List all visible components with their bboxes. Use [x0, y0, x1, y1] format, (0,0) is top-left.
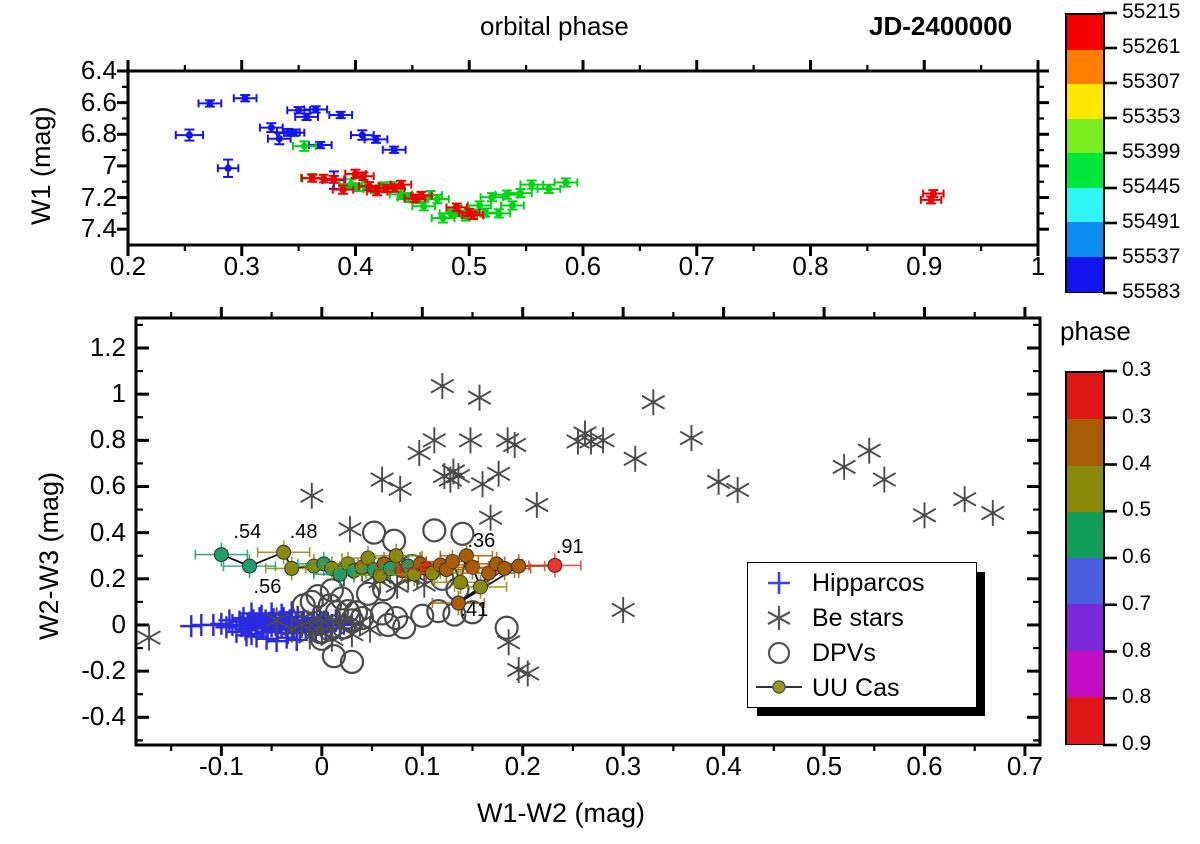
colorbar-tick-label: 0.3 [1122, 359, 1151, 380]
phase-annotation: .54 [233, 522, 261, 542]
legend-item-be-stars[interactable]: Be stars [812, 604, 904, 633]
lower-x-tick: -0.1 [193, 753, 249, 779]
colorbar-band [1067, 50, 1103, 85]
colorbar-tick-label: 55353 [1122, 106, 1180, 127]
lower-x-tick: 0 [294, 753, 350, 779]
colorbar-band [1067, 373, 1103, 420]
phase-annotation: .48 [290, 522, 318, 542]
legend-marker-asterisk [768, 606, 790, 630]
colorbar-tick-label: 0.3 [1122, 406, 1151, 427]
upper-y-tick: 6.4 [55, 57, 117, 83]
lower-x-tick: 0.3 [595, 753, 651, 779]
colorbar-tick-label: 0.8 [1122, 640, 1151, 661]
lower-x-tick: 0.6 [896, 753, 952, 779]
upper-x-tick: 0.9 [902, 253, 946, 279]
lower-y-tick: 0.6 [58, 472, 126, 498]
phase-annotation: .41 [460, 600, 488, 620]
colorbar-tick-label: 55261 [1122, 36, 1180, 57]
lower-y-tick: 1 [58, 380, 126, 406]
lower-x-tick: 0.5 [796, 753, 852, 779]
lower-x-tick: 0.7 [997, 753, 1053, 779]
upper-x-tick: 0.2 [106, 253, 150, 279]
colorbar-tick-label: 55537 [1122, 246, 1180, 267]
colorbar-tick-label: 55399 [1122, 141, 1180, 162]
colorbar-band [1067, 119, 1103, 154]
lower-ylabel: W2-W3 (mag) [36, 472, 63, 640]
colorbar-tick-label: 55445 [1122, 176, 1180, 197]
colorbar-tick-label: 0.7 [1122, 593, 1151, 614]
colorbar-band [1067, 419, 1103, 466]
lower-x-tick: 0.2 [495, 753, 551, 779]
upper-y-tick: 7 [55, 152, 117, 178]
colorbar-band [1067, 697, 1103, 744]
colorbar-tick-label: 0.9 [1122, 733, 1151, 754]
colorbar-band [1067, 222, 1103, 257]
lower-y-tick: -0.2 [58, 657, 126, 683]
colorbar-band [1067, 604, 1103, 651]
lower-y-tick: 1.2 [58, 334, 126, 360]
colorbar-tick-label: 55307 [1122, 71, 1180, 92]
colorbar-band [1067, 188, 1103, 223]
upper-x-tick: 0.5 [447, 253, 491, 279]
legend-item-dpvs[interactable]: DPVs [812, 639, 876, 668]
upper-y-tick: 7.2 [55, 184, 117, 210]
phase-annotation: .56 [254, 577, 282, 597]
colorbar-band [1067, 84, 1103, 119]
upper-ylabel: W1 (mag) [28, 106, 55, 225]
lower-x-tick: 0.4 [696, 753, 752, 779]
upper-x-tick: 0.6 [561, 253, 605, 279]
lower-y-tick: 0.4 [58, 519, 126, 545]
colorbar-tick-label: 0.5 [1122, 499, 1151, 520]
legend-marker-plus [768, 572, 790, 594]
upper-x-tick: 0.4 [334, 253, 378, 279]
colorbar-band [1067, 257, 1103, 292]
upper-x-tick: 1 [1016, 253, 1060, 279]
colorbar-band [1067, 466, 1103, 513]
colorbar-band [1067, 15, 1103, 50]
lower-y-tick: -0.4 [58, 703, 126, 729]
lower-x-tick: 0.1 [394, 753, 450, 779]
upper-y-tick: 7.4 [55, 215, 117, 241]
upper-x-tick: 0.7 [675, 253, 719, 279]
colorbar-tick-label: 0.6 [1122, 546, 1151, 567]
colorbar-band [1067, 651, 1103, 698]
lower-y-tick: 0.2 [58, 565, 126, 591]
colorbar-band [1067, 153, 1103, 188]
phase-colorbar[interactable] [1065, 371, 1105, 745]
legend-box[interactable]: HipparcosBe starsDPVsUU Cas [747, 562, 977, 708]
lower-xlabel: W1-W2 (mag) [477, 800, 645, 827]
colorbar-tick-label: 55583 [1122, 281, 1180, 302]
legend-marker-line-dot [756, 681, 802, 693]
colorbar-tick-label: 0.8 [1122, 686, 1151, 707]
jd-colorbar[interactable] [1065, 13, 1105, 293]
lower-y-tick: 0 [58, 611, 126, 637]
phase-annotation: .36 [467, 531, 495, 551]
colorbar-band [1067, 512, 1103, 559]
colorbar-tick-label: 55491 [1122, 211, 1180, 232]
colorbar-band [1067, 558, 1103, 605]
upper-y-tick: 6.6 [55, 89, 117, 115]
figure-canvas [0, 0, 1200, 844]
legend-item-uu-cas[interactable]: UU Cas [812, 674, 900, 703]
colorbar-tick-label: 55215 [1122, 1, 1180, 22]
legend-marker-circle [769, 643, 789, 663]
lower-y-tick: 0.8 [58, 426, 126, 452]
upper-y-tick: 6.8 [55, 120, 117, 146]
upper-series-epoch-blue [176, 94, 406, 189]
colorbar-tick-label: 0.4 [1122, 453, 1151, 474]
phase-annotation: .91 [556, 537, 584, 557]
upper-x-tick: 0.3 [220, 253, 264, 279]
legend-item-hipparcos[interactable]: Hipparcos [812, 569, 925, 598]
upper-x-tick: 0.8 [789, 253, 833, 279]
